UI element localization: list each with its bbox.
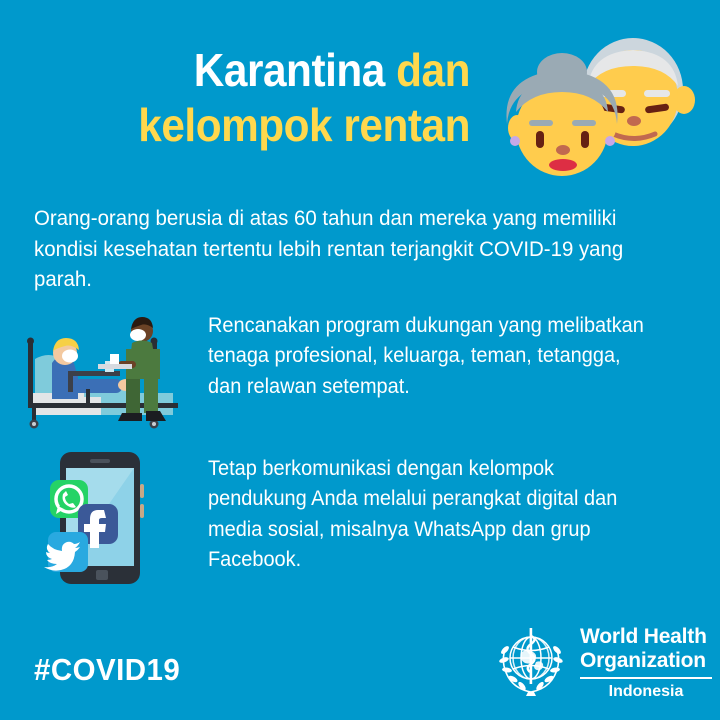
who-divider [580,677,712,679]
who-emblem-icon [492,622,570,700]
who-country-label: Indonesia [580,683,712,701]
page-title: Karantina dan kelompok rentan [90,48,470,148]
title-line-1: Karantina dan [120,48,470,93]
hospital-bed-illustration [22,305,198,433]
who-wordmark: World Health Organization Indonesia [580,622,712,701]
section-stay-connected: Tetap berkomunikasi dengan kelompok pend… [22,448,694,588]
who-name-line-1: World Health [580,625,712,649]
twitter-icon [44,532,88,572]
smartphone-social-media-illustration [22,448,198,588]
title-line-2: kelompok rentan [120,103,470,148]
covid-infographic-poster: Karantina dan kelompok rentan [0,0,720,720]
section-stay-connected-text: Tetap berkomunikasi dengan kelompok pend… [208,448,655,576]
title-word-dan [385,44,396,96]
older-couple-emoji [487,28,713,188]
who-logo: World Health Organization Indonesia [492,622,712,701]
title-word-karantina: Karantina [194,44,385,96]
intro-paragraph: Orang-orang berusia di atas 60 tahun dan… [34,203,661,295]
hashtag-covid19: #COVID19 [34,652,180,688]
section-support-program-text: Rencanakan program dukungan yang melibat… [208,305,655,402]
section-support-program: Rencanakan program dukungan yang melibat… [22,305,694,433]
who-name-line-2: Organization [580,649,712,673]
